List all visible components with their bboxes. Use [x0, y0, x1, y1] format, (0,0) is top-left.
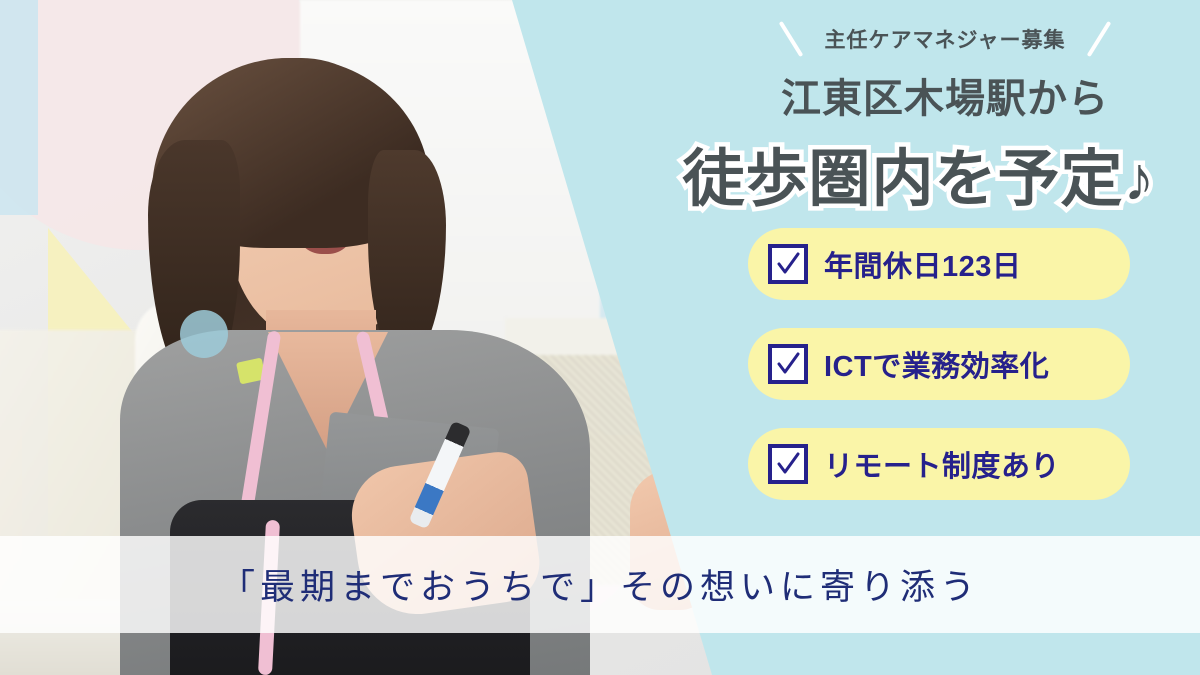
- diagonal-slash-icon: [778, 21, 803, 57]
- eyebrow-row: 主任ケアマネジャー募集: [690, 24, 1200, 54]
- tagline-text: 「最期までおうちで」その想いに寄り添う: [220, 559, 980, 610]
- feature-pill[interactable]: ICTで業務効率化: [748, 328, 1130, 400]
- checkbox-checked-icon: [768, 444, 808, 484]
- feature-pill-label: 年間休日123日: [824, 243, 1021, 285]
- main-headline: 徒歩圏内を予定♪: [636, 128, 1200, 218]
- feature-pill-label: リモート制度あり: [824, 443, 1060, 485]
- checkbox-checked-icon: [768, 344, 808, 384]
- diagonal-slash-icon: [1087, 21, 1112, 57]
- feature-pill[interactable]: 年間休日123日: [748, 228, 1130, 300]
- feature-pill[interactable]: リモート制度あり: [748, 428, 1130, 500]
- feature-pill-list: 年間休日123日 ICTで業務効率化 リモート制度あり: [748, 228, 1130, 528]
- recruitment-banner: 主任ケアマネジャー募集 江東区木場駅から 徒歩圏内を予定♪ 年間休日123日: [0, 0, 1200, 675]
- eyebrow-text: 主任ケアマネジャー募集: [825, 24, 1066, 54]
- tagline-band: 「最期までおうちで」その想いに寄り添う: [0, 536, 1200, 633]
- shoulder-badge: [180, 310, 228, 358]
- checkbox-checked-icon: [768, 244, 808, 284]
- sub-headline: 江東区木場駅から: [690, 66, 1200, 124]
- feature-pill-label: ICTで業務効率化: [824, 343, 1049, 385]
